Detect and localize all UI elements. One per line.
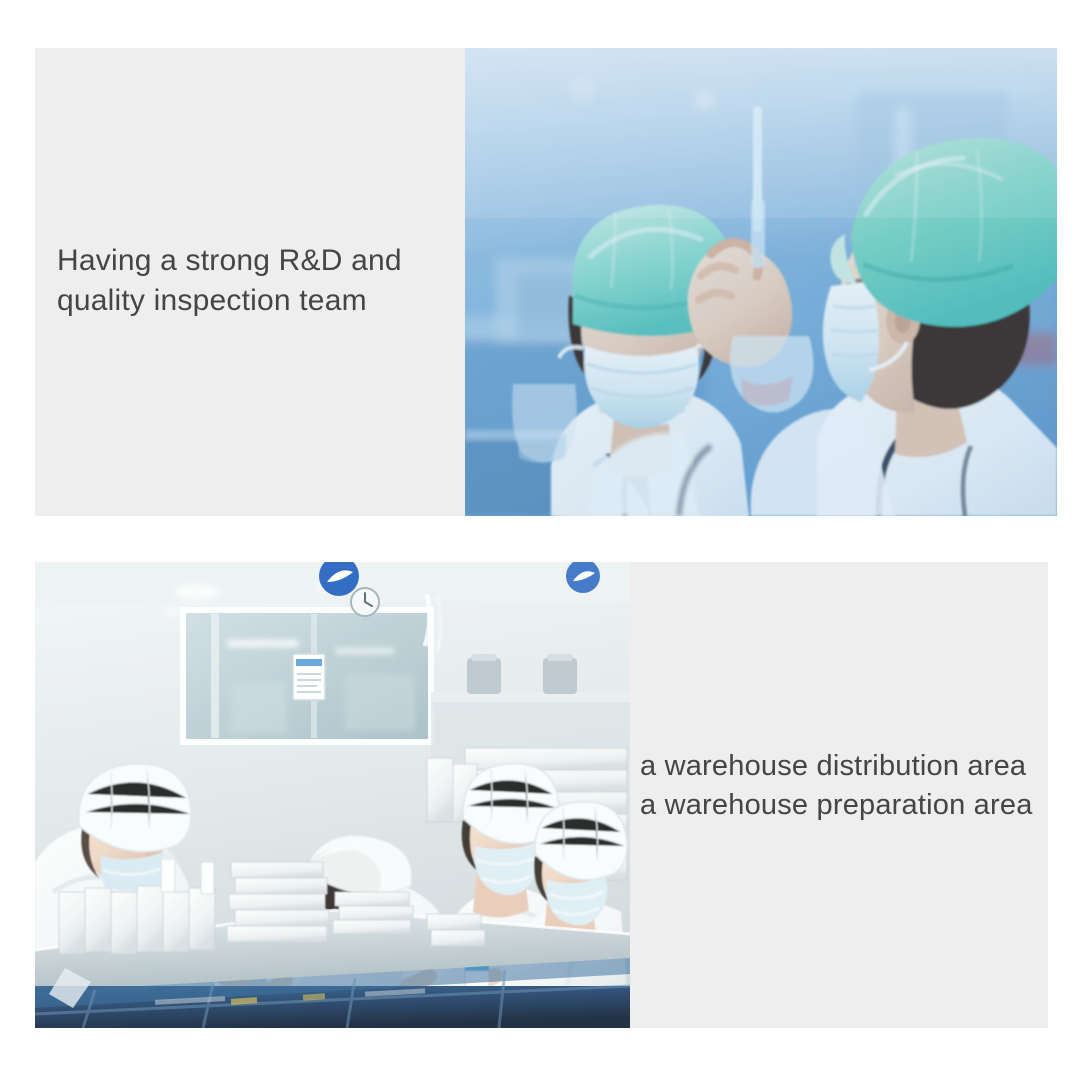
product-detail-image: Having a strong R&D and quality inspecti…	[0, 0, 1080, 1080]
bottom-caption-panel: a warehouse distribution area a warehous…	[630, 562, 1048, 1028]
warehouse-packing-photo-graphic	[35, 562, 630, 1028]
lab-inspection-photo	[465, 48, 1057, 516]
top-caption-line-2: quality inspection team	[57, 281, 457, 321]
bottom-caption-text: a warehouse distribution area a warehous…	[640, 747, 1048, 825]
bottom-caption-line-1: a warehouse distribution area	[640, 747, 1048, 786]
top-caption-panel: Having a strong R&D and quality inspecti…	[35, 48, 465, 516]
warehouse-packing-photo	[35, 562, 630, 1028]
lab-inspection-photo-graphic	[465, 48, 1057, 516]
top-caption-line-1: Having a strong R&D and	[57, 241, 457, 281]
top-feature-block: Having a strong R&D and quality inspecti…	[35, 48, 1057, 516]
top-caption-text: Having a strong R&D and quality inspecti…	[57, 241, 457, 321]
bottom-caption-line-2: a warehouse preparation area	[640, 786, 1048, 825]
bottom-feature-block: a warehouse distribution area a warehous…	[35, 562, 1048, 1028]
